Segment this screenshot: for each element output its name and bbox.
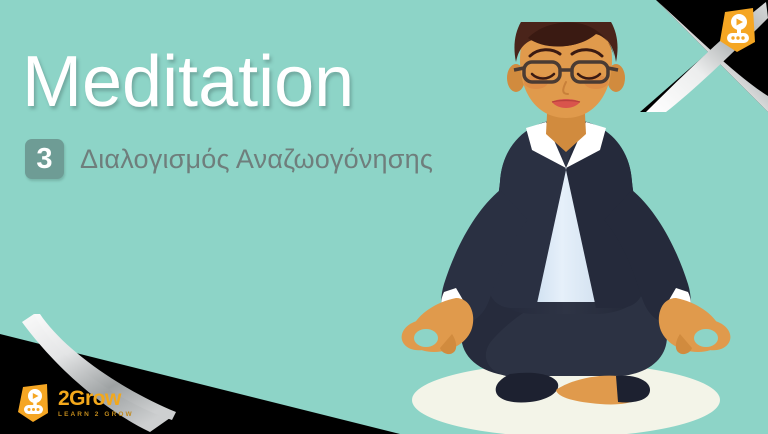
- brand-logo-top-right: [717, 8, 757, 52]
- subtitle: Διαλογισμός Αναζωογόνησης: [80, 144, 433, 175]
- title-block: Meditation 3 Διαλογισμός Αναζωογόνησης: [22, 46, 433, 179]
- slide-canvas: Meditation 3 Διαλογισμός Αναζωογόνησης: [0, 0, 768, 434]
- lesson-number-badge: 3: [25, 139, 64, 179]
- 2grow-g-play-icon: [16, 384, 50, 422]
- brand-name: 2Grow: [58, 388, 134, 409]
- brand-wordmark: 2Grow LEARN 2 GROW: [58, 388, 134, 419]
- page-title: Meditation: [22, 46, 433, 118]
- brand-logo-bottom-left: 2Grow LEARN 2 GROW: [16, 384, 134, 422]
- subtitle-row: 3 Διαλογισμός Αναζωογόνησης: [25, 139, 433, 179]
- brand-tagline: LEARN 2 GROW: [58, 412, 134, 419]
